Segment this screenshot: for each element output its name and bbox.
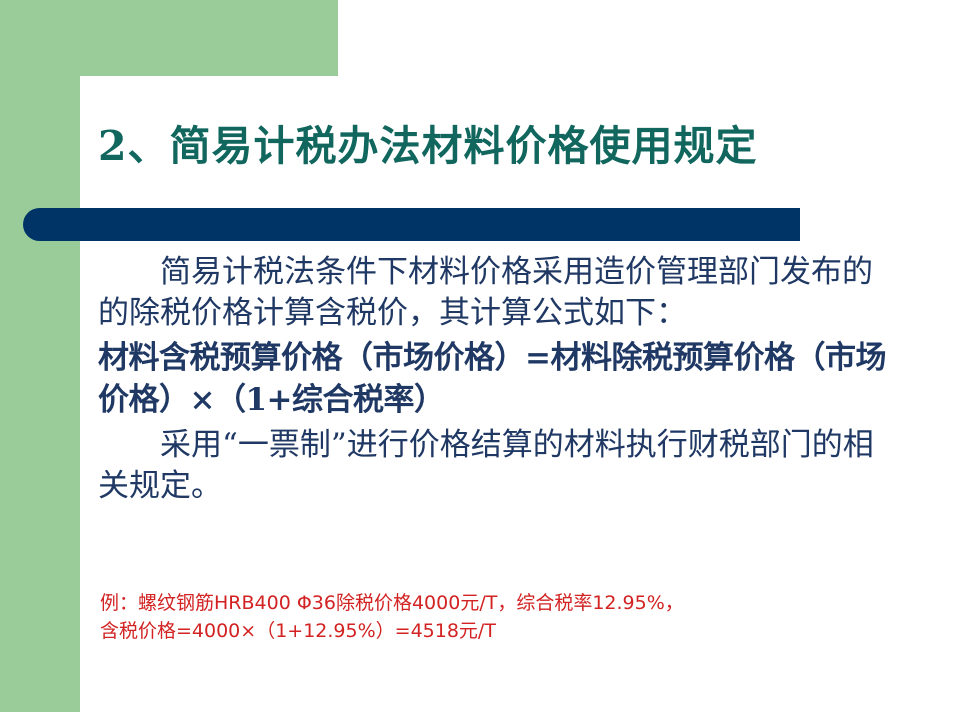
example-note: 例：螺纹钢筋HRB400 Φ36除税价格4000元/T，综合税率12.95%， … xyxy=(100,590,920,645)
slide-content: 2、简易计税办法材料价格使用规定 简易计税法条件下材料价格采用造价管理部门发布的… xyxy=(0,0,960,720)
page-title: 2、简易计税办法材料价格使用规定 xyxy=(98,124,898,169)
paragraph-intro: 简易计税法条件下材料价格采用造价管理部门发布的的除税价格计算含税价，其计算公式如… xyxy=(98,252,898,334)
paragraph-formula: 材料含税预算价格（市场价格）=材料除税预算价格（市场价格）×（1+综合税率） xyxy=(98,338,898,420)
slide-body: 简易计税法条件下材料价格采用造价管理部门发布的的除税价格计算含税价，其计算公式如… xyxy=(98,252,898,507)
example-line-2: 含税价格=4000×（1+12.95%）=4518元/T xyxy=(100,618,920,646)
paragraph-one-ticket-rule: 采用“一票制”进行价格结算的材料执行财税部门的相关规定。 xyxy=(98,425,898,507)
example-line-1: 例：螺纹钢筋HRB400 Φ36除税价格4000元/T，综合税率12.95%， xyxy=(100,590,920,618)
presentation-slide: 2、简易计税办法材料价格使用规定 简易计税法条件下材料价格采用造价管理部门发布的… xyxy=(0,0,960,720)
